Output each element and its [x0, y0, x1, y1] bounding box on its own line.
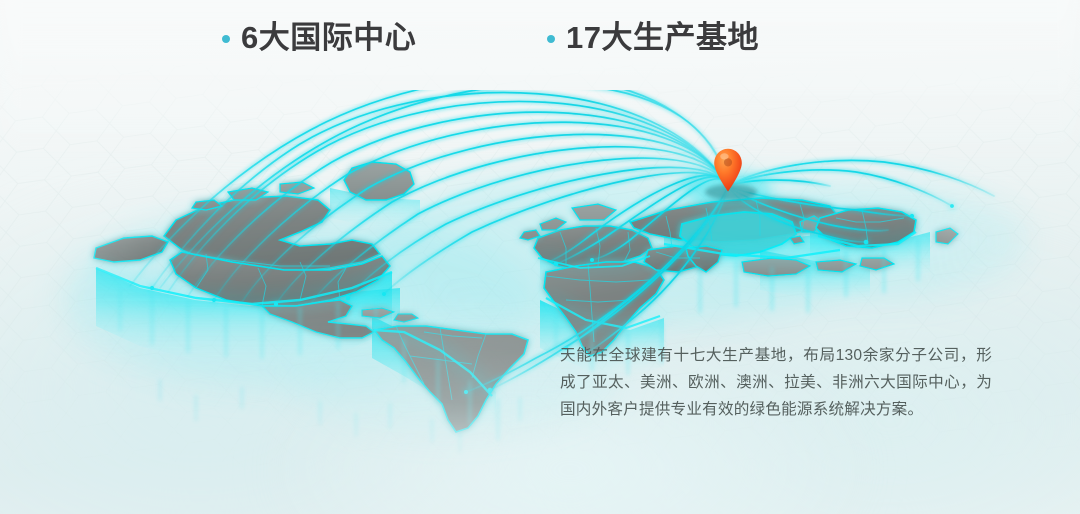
landmass-caribbean [362, 308, 418, 322]
landmass-south-america [374, 326, 528, 432]
heading-production-bases-label: 17大生产基地 [566, 22, 759, 53]
bullet-dot-icon [547, 35, 555, 43]
heading-international-centers-label: 6大国际中心 [241, 22, 416, 53]
landmass-southeast-asia [742, 258, 894, 276]
landmass-canada [164, 196, 380, 272]
pin-highlight [720, 153, 728, 159]
landmass-northern-europe [520, 204, 616, 240]
landmass-arctic-islands [192, 182, 314, 210]
landmass-mexico [262, 300, 374, 338]
map-pin-marker[interactable] [713, 148, 743, 192]
landmass-europe [534, 226, 652, 270]
background-mist-left [0, 180, 520, 514]
headings-row: 6大国际中心 17大生产基地 [0, 22, 1080, 68]
description-paragraph: 天能在全球建有十七大生产基地，布局130余家分子公司，形成了亚太、美洲、欧洲、澳… [560, 342, 992, 423]
landmass-india [686, 246, 722, 272]
landmass-middle-east [644, 246, 710, 272]
bullet-dot-icon [222, 35, 230, 43]
landmass-australia [816, 208, 916, 248]
heading-production-bases: 17大生产基地 [547, 22, 759, 53]
infographic-canvas: 6大国际中心 17大生产基地 天能在全球建有十七大生产基地，布局130余家分子公… [0, 0, 1080, 514]
landmass-greenland [344, 162, 414, 200]
landmass-alaska [94, 236, 168, 262]
landmass-new-zealand [936, 228, 958, 244]
landmass-japan [790, 216, 822, 244]
world-map-3d [0, 0, 1080, 514]
landmass-russia [630, 198, 838, 242]
landmass-china [680, 212, 796, 256]
heading-international-centers: 6大国际中心 [222, 22, 416, 53]
landmass-united-states [170, 252, 390, 306]
map-mist-particles [160, 380, 520, 452]
pin-hole [724, 158, 732, 166]
